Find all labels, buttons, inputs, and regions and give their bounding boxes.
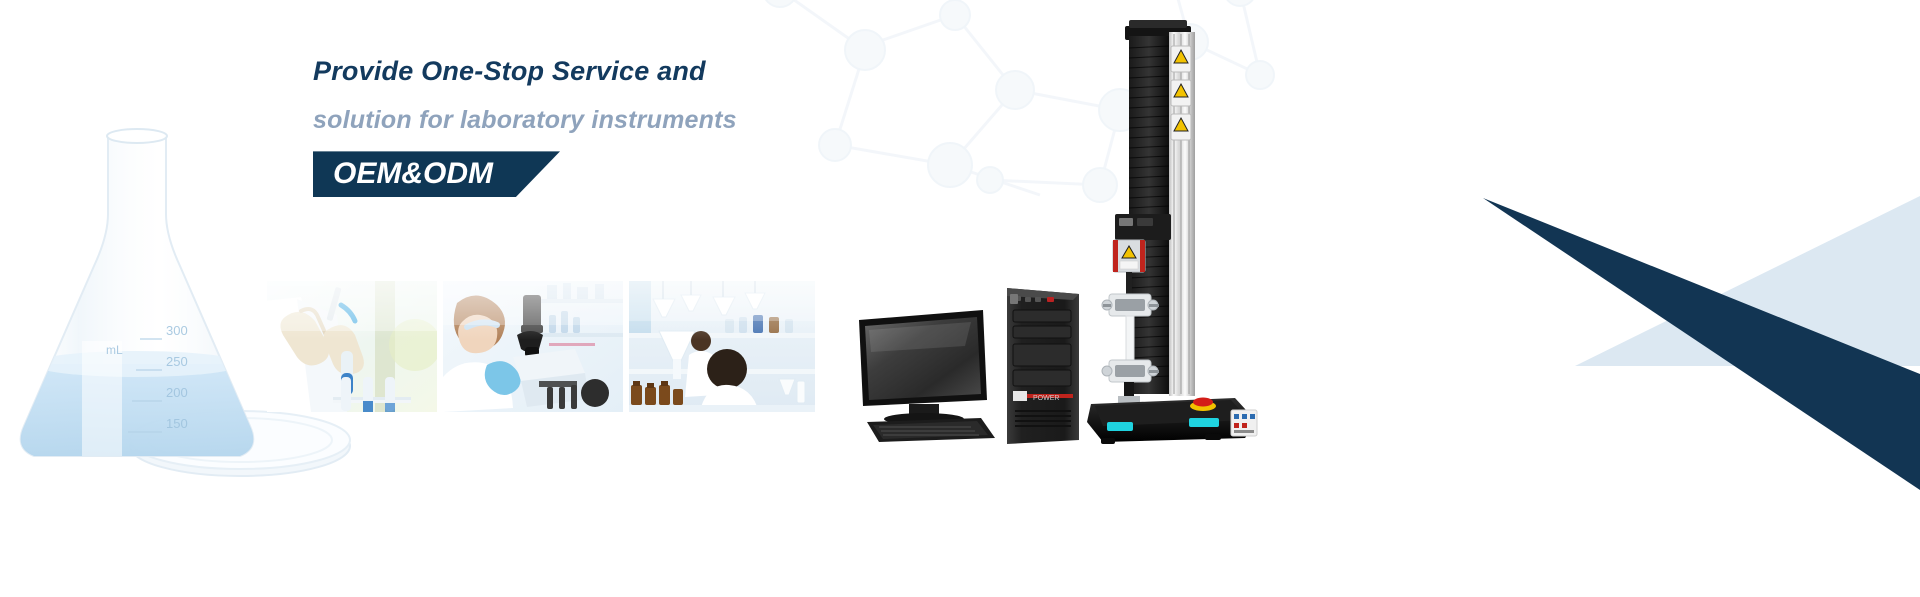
flask-graduation-300: 300 xyxy=(166,323,188,338)
svg-text:POWER: POWER xyxy=(1033,395,1059,402)
lab-photo-strip xyxy=(267,281,815,412)
headline-line-2: solution for laboratory instruments xyxy=(313,106,933,136)
headline-line-1: Provide One-Stop Service and xyxy=(313,56,933,88)
monitor xyxy=(859,310,987,425)
universal-tensile-testing-machine xyxy=(1085,18,1300,446)
upper-grip xyxy=(1102,294,1159,316)
badge-label: OEM&ODM xyxy=(333,151,493,197)
flask-graduation-150: 150 xyxy=(166,416,188,431)
accent-cyan-right xyxy=(1189,418,1219,427)
flask-graduation-250: 250 xyxy=(166,354,188,369)
flask-unit-label: mL xyxy=(106,343,123,357)
headline-block: Provide One-Stop Service and solution fo… xyxy=(313,56,933,197)
crosshead xyxy=(1115,214,1171,240)
machine-base xyxy=(1087,398,1257,445)
photo-microscope xyxy=(443,281,623,412)
dark-arrow-triangle xyxy=(1483,198,1920,490)
warning-labels xyxy=(1171,46,1191,140)
oem-odm-badge: OEM&ODM xyxy=(313,151,560,197)
accent-cyan-left xyxy=(1107,422,1133,431)
flask-graduation-200: 200 xyxy=(166,385,188,400)
load-cell xyxy=(1113,240,1145,272)
desktop-computer: POWER xyxy=(855,286,1085,446)
lower-grip xyxy=(1102,360,1159,382)
photo-pipetting xyxy=(267,281,437,412)
hero-banner: 300 250 200 150 mL Provide One-Stop Serv… xyxy=(0,0,1920,597)
photo-lab-bench xyxy=(629,281,815,412)
keyboard xyxy=(867,418,995,442)
tower: POWER xyxy=(1007,288,1079,444)
